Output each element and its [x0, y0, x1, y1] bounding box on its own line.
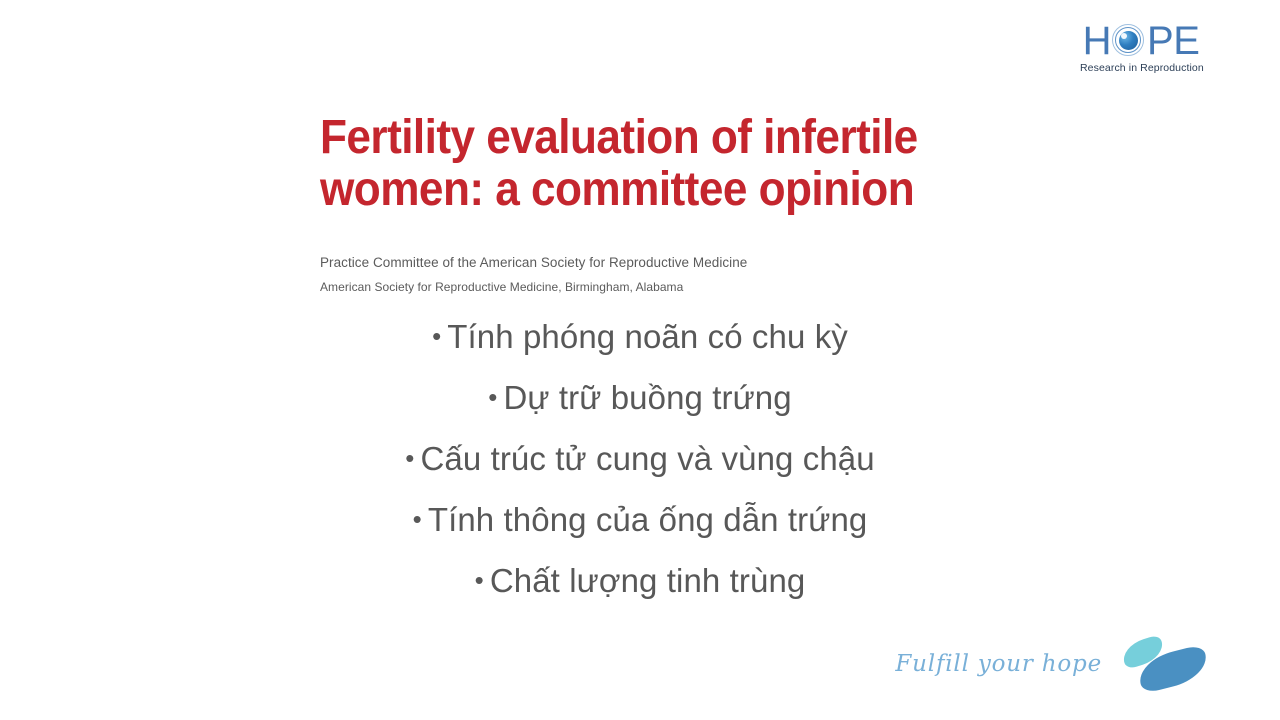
- brand-tagline: Research in Reproduction: [1080, 62, 1202, 74]
- footer-tagline: Fulfill your hope: [895, 651, 1102, 677]
- list-item-label: Dự trữ buồng trứng: [504, 379, 792, 416]
- brand-letter-p: P: [1147, 21, 1173, 61]
- byline-committee: Practice Committee of the American Socie…: [320, 250, 1000, 276]
- leaves-swoosh-icon: [1120, 638, 1208, 690]
- eye-icon: [1112, 24, 1146, 58]
- brand-letter-e: E: [1173, 21, 1199, 61]
- list-item: •Tính thông của ống dẫn trứng: [0, 489, 1280, 550]
- eye-highlight: [1121, 33, 1127, 39]
- bullet-marker-icon: •: [405, 443, 420, 473]
- list-item: •Cấu trúc tử cung và vùng chậu: [0, 428, 1280, 489]
- list-item-label: Tính phóng noãn có chu kỳ: [447, 318, 848, 355]
- list-item: •Tính phóng noãn có chu kỳ: [0, 306, 1280, 367]
- list-item-label: Chất lượng tinh trùng: [490, 562, 806, 599]
- article-byline: Practice Committee of the American Socie…: [320, 250, 1000, 300]
- bullet-list: •Tính phóng noãn có chu kỳ •Dự trữ buồng…: [0, 306, 1280, 611]
- bullet-marker-icon: •: [432, 321, 447, 351]
- brand-logo: H P E Research in Reproduction: [1080, 22, 1202, 74]
- bullet-marker-icon: •: [475, 565, 490, 595]
- list-item: •Chất lượng tinh trùng: [0, 550, 1280, 611]
- list-item: •Dự trữ buồng trứng: [0, 367, 1280, 428]
- brand-letter-h: H: [1083, 21, 1111, 61]
- bullet-marker-icon: •: [413, 504, 428, 534]
- page-title: Fertility evaluation of infertile women:…: [320, 112, 946, 216]
- byline-affiliation: American Society for Reproductive Medici…: [320, 276, 1000, 299]
- footer-brand: Fulfill your hope: [895, 638, 1208, 690]
- bullet-marker-icon: •: [488, 382, 503, 412]
- list-item-label: Tính thông của ống dẫn trứng: [428, 501, 868, 538]
- list-item-label: Cấu trúc tử cung và vùng chậu: [420, 440, 874, 477]
- brand-wordmark: H P E: [1080, 22, 1202, 60]
- article-header: Fertility evaluation of infertile women:…: [320, 112, 1000, 299]
